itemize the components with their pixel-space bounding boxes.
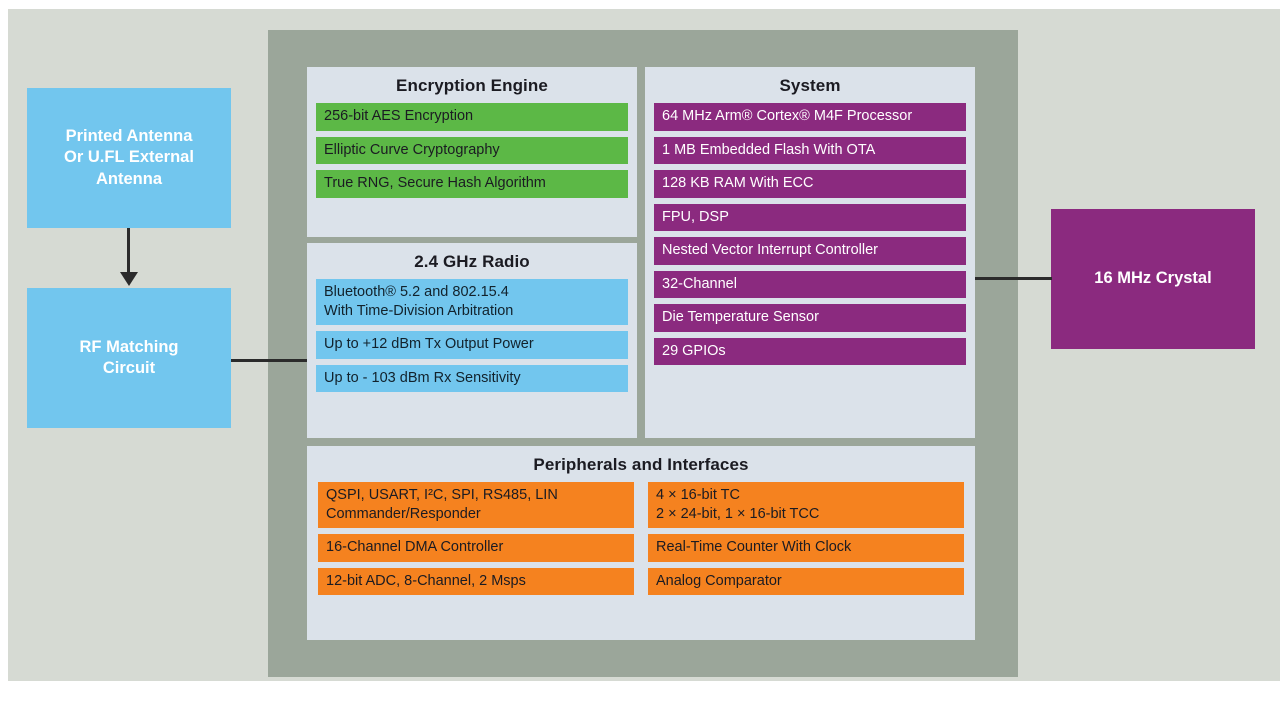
- system-row[interactable]: 32-Channel: [654, 271, 966, 299]
- encryption-row[interactable]: 256-bit AES Encryption: [316, 103, 628, 131]
- panel-title-radio: 2.4 GHz Radio: [307, 243, 637, 279]
- connector-antenna-to-rf-matching: [127, 228, 130, 273]
- system-row[interactable]: 64 MHz Arm® Cortex® M4F Processor: [654, 103, 966, 131]
- system-row[interactable]: 128 KB RAM With ECC: [654, 170, 966, 198]
- connector-rf-matching-to-radio: [231, 359, 309, 362]
- peripherals-row[interactable]: 12-bit ADC, 8-Channel, 2 Msps: [318, 568, 634, 596]
- peripherals-row[interactable]: 4 × 16-bit TC 2 × 24-bit, 1 × 16-bit TCC: [648, 482, 964, 528]
- system-row[interactable]: 1 MB Embedded Flash With OTA: [654, 137, 966, 165]
- peripherals-right-column: 4 × 16-bit TC 2 × 24-bit, 1 × 16-bit TCC…: [648, 482, 964, 595]
- panel-title-peripherals: Peripherals and Interfaces: [307, 446, 975, 482]
- external-block-antenna[interactable]: Printed Antenna Or U.FL External Antenna: [27, 88, 231, 228]
- panel-radio: 2.4 GHz Radio Bluetooth® 5.2 and 802.15.…: [307, 243, 637, 438]
- diagram-canvas: Printed Antenna Or U.FL External Antenna…: [0, 0, 1280, 711]
- connector-system-to-crystal: [973, 277, 1052, 280]
- encryption-row-list: 256-bit AES Encryption Elliptic Curve Cr…: [307, 103, 637, 207]
- external-block-crystal[interactable]: 16 MHz Crystal: [1051, 209, 1255, 349]
- external-block-rf-matching[interactable]: RF Matching Circuit: [27, 288, 231, 428]
- system-row[interactable]: FPU, DSP: [654, 204, 966, 232]
- system-row-list: 64 MHz Arm® Cortex® M4F Processor 1 MB E…: [645, 103, 975, 374]
- panel-encryption-engine: Encryption Engine 256-bit AES Encryption…: [307, 67, 637, 237]
- system-row[interactable]: Nested Vector Interrupt Controller: [654, 237, 966, 265]
- encryption-row[interactable]: Elliptic Curve Cryptography: [316, 137, 628, 165]
- system-row[interactable]: 29 GPIOs: [654, 338, 966, 366]
- panel-peripherals: Peripherals and Interfaces QSPI, USART, …: [307, 446, 975, 640]
- system-row[interactable]: Die Temperature Sensor: [654, 304, 966, 332]
- peripherals-left-column: QSPI, USART, I²C, SPI, RS485, LIN Comman…: [318, 482, 634, 595]
- arrow-head-icon: [120, 272, 138, 286]
- peripherals-row-grid: QSPI, USART, I²C, SPI, RS485, LIN Comman…: [307, 482, 975, 606]
- encryption-row[interactable]: True RNG, Secure Hash Algorithm: [316, 170, 628, 198]
- peripherals-row[interactable]: Analog Comparator: [648, 568, 964, 596]
- peripherals-row[interactable]: QSPI, USART, I²C, SPI, RS485, LIN Comman…: [318, 482, 634, 528]
- radio-row[interactable]: Bluetooth® 5.2 and 802.15.4 With Time-Di…: [316, 279, 628, 325]
- peripherals-row[interactable]: 16-Channel DMA Controller: [318, 534, 634, 562]
- radio-row[interactable]: Up to - 103 dBm Rx Sensitivity: [316, 365, 628, 393]
- radio-row-list: Bluetooth® 5.2 and 802.15.4 With Time-Di…: [307, 279, 637, 401]
- panel-title-system: System: [645, 67, 975, 103]
- panel-title-encryption-engine: Encryption Engine: [307, 67, 637, 103]
- panel-system: System 64 MHz Arm® Cortex® M4F Processor…: [645, 67, 975, 438]
- radio-row[interactable]: Up to +12 dBm Tx Output Power: [316, 331, 628, 359]
- peripherals-row[interactable]: Real-Time Counter With Clock: [648, 534, 964, 562]
